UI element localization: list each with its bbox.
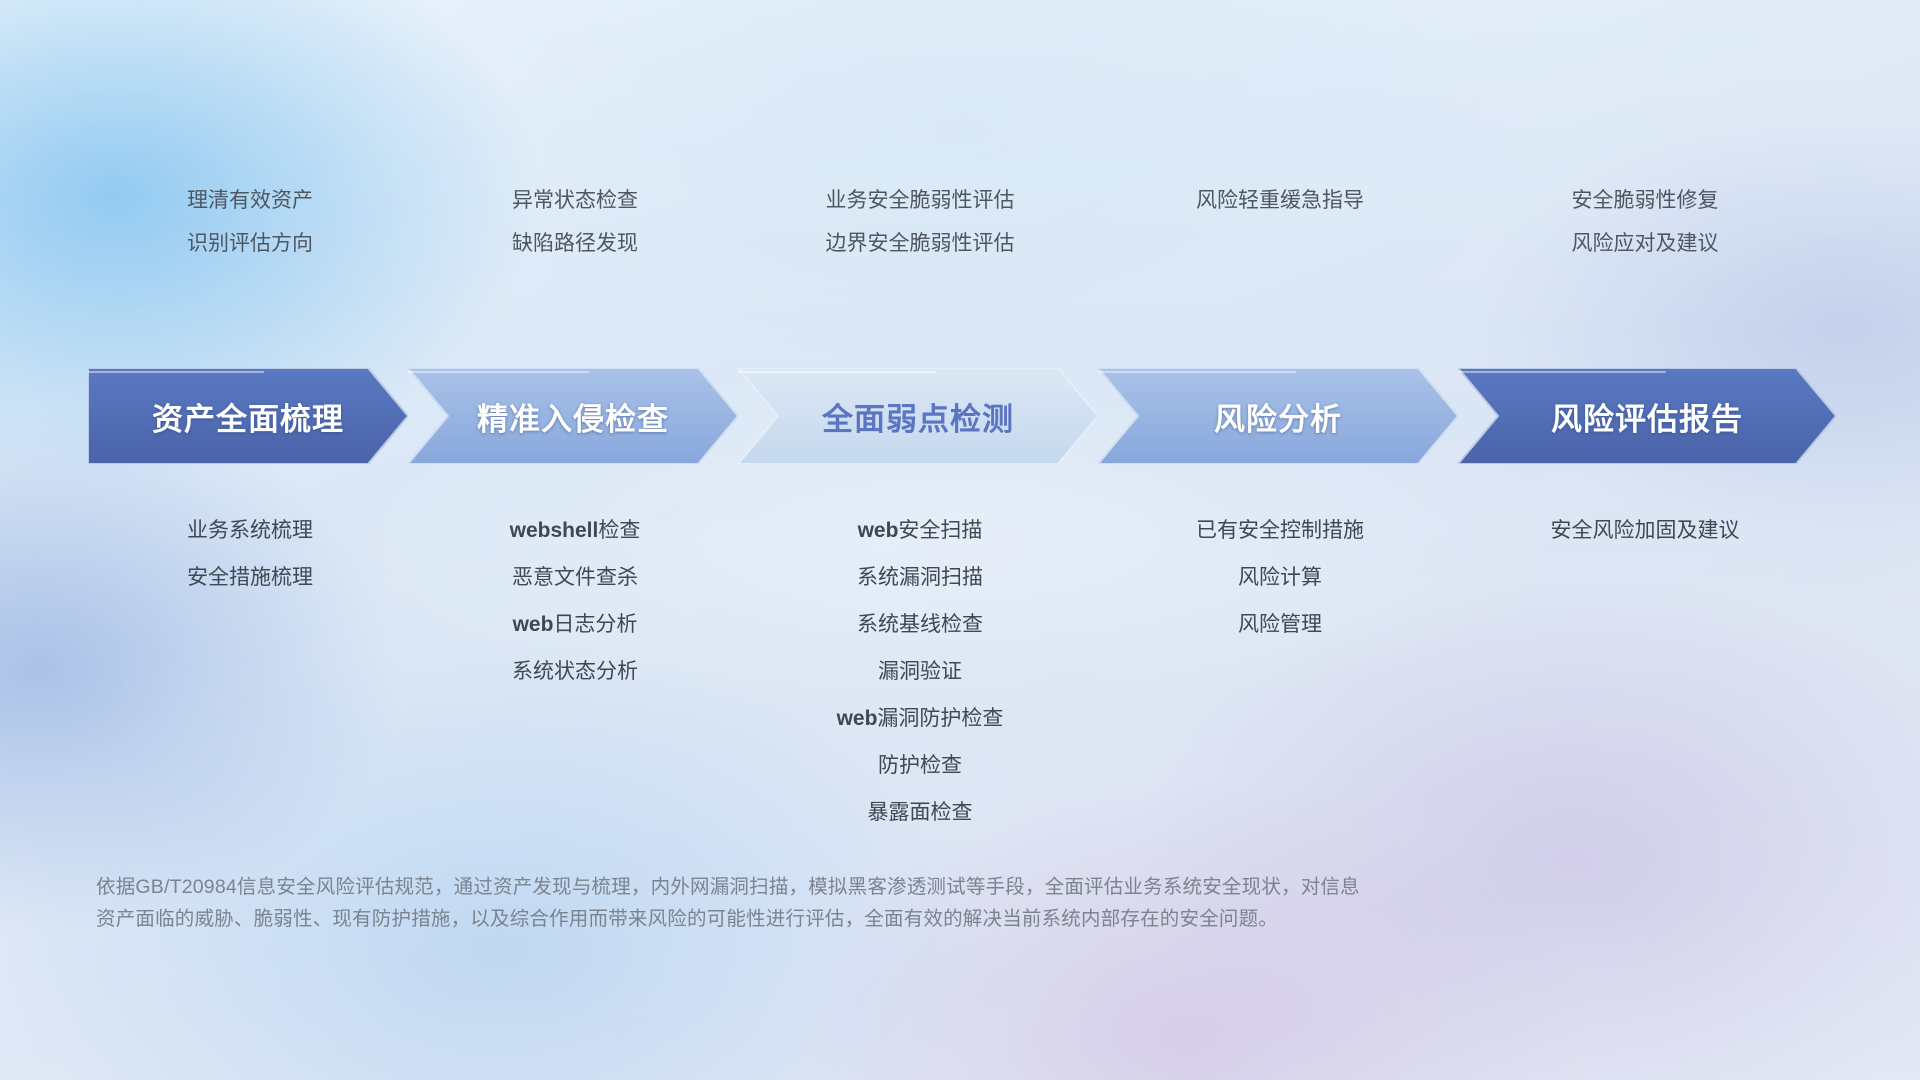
top-list-risk-analysis: 风险轻重缓急指导 (1100, 190, 1460, 276)
bottom-list-weakness-detection: web安全扫描系统漏洞扫描系统基线检查漏洞验证web漏洞防护检查防护检查暴露面检… (740, 520, 1100, 849)
bottom-list-item: 已有安全控制措施 (1100, 520, 1460, 541)
top-list-item: 异常状态检查 (410, 190, 740, 211)
process-step-label: 全面弱点检测 (822, 394, 1014, 439)
process-step-label: 风险评估报告 (1551, 394, 1743, 439)
top-list-item: 风险轻重缓急指导 (1100, 190, 1460, 211)
top-list-item: 边界安全脆弱性评估 (740, 233, 1100, 254)
footnote-line-2: 资产面临的威胁、脆弱性、现有防护措施，以及综合作用而带来风险的可能性进行评估，全… (96, 904, 1606, 936)
top-list-risk-report: 安全脆弱性修复风险应对及建议 (1460, 190, 1830, 276)
bottom-list-item: 系统状态分析 (410, 661, 740, 682)
emphasis-token: web (513, 613, 554, 636)
top-list-item: 识别评估方向 (90, 233, 410, 254)
bottom-list-asset-inventory: 业务系统梳理安全措施梳理 (90, 520, 410, 849)
top-list-asset-inventory: 理清有效资产识别评估方向 (90, 190, 410, 276)
bottom-list-item: 风险计算 (1100, 567, 1460, 588)
process-step-asset-inventory[interactable]: 资产全面梳理 (88, 368, 408, 464)
top-list-item: 安全脆弱性修复 (1460, 190, 1830, 211)
emphasis-token: web (837, 707, 878, 730)
bottom-task-lists: 业务系统梳理安全措施梳理webshell检查恶意文件查杀web日志分析系统状态分… (90, 520, 1830, 849)
bottom-list-item: 系统基线检查 (740, 614, 1100, 635)
bottom-list-item: 防护检查 (740, 755, 1100, 776)
process-step-label: 精准入侵检查 (477, 394, 669, 439)
top-list-item: 缺陷路径发现 (410, 233, 740, 254)
bottom-list-item: web日志分析 (410, 614, 740, 635)
emphasis-token: webshell (510, 519, 599, 542)
bottom-list-intrusion-check: webshell检查恶意文件查杀web日志分析系统状态分析 (410, 520, 740, 849)
top-list-weakness-detection: 业务安全脆弱性评估边界安全脆弱性评估 (740, 190, 1100, 276)
emphasis-token: web (858, 519, 899, 542)
process-step-risk-report[interactable]: 风险评估报告 (1458, 368, 1836, 464)
bottom-list-item: 安全风险加固及建议 (1460, 520, 1830, 541)
top-list-intrusion-check: 异常状态检查缺陷路径发现 (410, 190, 740, 276)
footnote-line-1: 依据GB/T20984信息安全风险评估规范，通过资产发现与梳理，内外网漏洞扫描，… (96, 872, 1606, 904)
bottom-list-item: 业务系统梳理 (90, 520, 410, 541)
bottom-list-risk-analysis: 已有安全控制措施风险计算风险管理 (1100, 520, 1460, 849)
bottom-list-risk-report: 安全风险加固及建议 (1460, 520, 1830, 849)
bottom-list-item: web安全扫描 (740, 520, 1100, 541)
process-step-weakness-detection[interactable]: 全面弱点检测 (738, 368, 1098, 464)
bottom-list-item: 漏洞验证 (740, 661, 1100, 682)
process-step-risk-analysis[interactable]: 风险分析 (1098, 368, 1458, 464)
top-list-item: 风险应对及建议 (1460, 233, 1830, 254)
bottom-list-item: web漏洞防护检查 (740, 708, 1100, 729)
top-list-item: 理清有效资产 (90, 190, 410, 211)
bottom-list-item: 安全措施梳理 (90, 567, 410, 588)
process-arrow-band: 资产全面梳理精准入侵检查全面弱点检测风险分析风险评估报告 (88, 368, 1836, 464)
footnote: 依据GB/T20984信息安全风险评估规范，通过资产发现与梳理，内外网漏洞扫描，… (96, 872, 1606, 935)
bottom-list-item: 风险管理 (1100, 614, 1460, 635)
process-step-intrusion-check[interactable]: 精准入侵检查 (408, 368, 738, 464)
bottom-list-item: 系统漏洞扫描 (740, 567, 1100, 588)
process-step-label: 风险分析 (1214, 394, 1342, 439)
top-capability-lists: 理清有效资产识别评估方向异常状态检查缺陷路径发现业务安全脆弱性评估边界安全脆弱性… (90, 190, 1830, 276)
bottom-list-item: 暴露面检查 (740, 802, 1100, 823)
bottom-list-item: 恶意文件查杀 (410, 567, 740, 588)
bottom-list-item: webshell检查 (410, 520, 740, 541)
process-step-label: 资产全面梳理 (152, 394, 344, 439)
top-list-item: 业务安全脆弱性评估 (740, 190, 1100, 211)
